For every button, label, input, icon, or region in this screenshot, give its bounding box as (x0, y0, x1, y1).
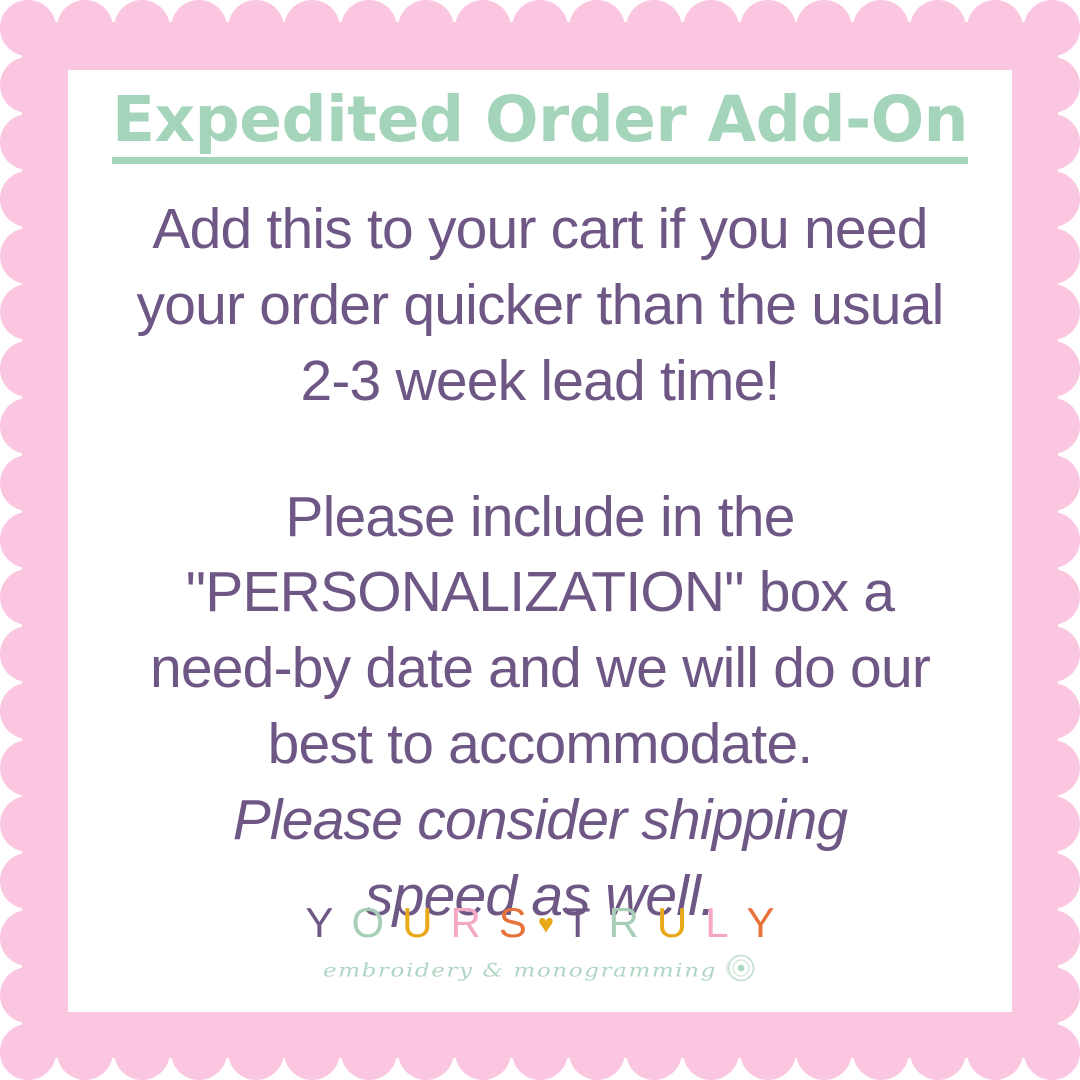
scallop-left (0, 569, 56, 625)
thread-spool-icon (723, 951, 757, 990)
scallop-right (1024, 1024, 1080, 1080)
scallop-top (57, 0, 113, 56)
scallop-bottom (626, 1024, 682, 1080)
scallop-top (455, 0, 511, 56)
scallop-right (1024, 626, 1080, 682)
scallop-right (1024, 114, 1080, 170)
scallop-top (853, 0, 909, 56)
scallop-bottom (57, 1024, 113, 1080)
scallop-left (0, 114, 56, 170)
logo-letter: L (696, 902, 737, 944)
scallop-right (1024, 228, 1080, 284)
scallop-right (1024, 171, 1080, 227)
scallop-left (0, 853, 56, 909)
logo-heart-icon: ♥ (536, 911, 556, 938)
scallop-right (1024, 796, 1080, 852)
page-title-text: Expedited Order Add-On (112, 87, 968, 164)
logo-letter: U (648, 902, 696, 944)
scallop-right (1024, 683, 1080, 739)
scallop-left (0, 341, 56, 397)
logo-letter: T (556, 902, 600, 944)
scallop-left (0, 455, 56, 511)
promo-card: Expedited Order Add-On Add this to your … (0, 0, 1080, 1080)
scallop-top (626, 0, 682, 56)
scallop-left (0, 626, 56, 682)
scallop-top (228, 0, 284, 56)
logo-letter: Y (738, 902, 784, 944)
para2-line-2: "PERSONALIZATION" box a (186, 560, 894, 624)
para2-italic-line-1: Please consider shipping (120, 783, 960, 859)
scallop-bottom (910, 1024, 966, 1080)
scallop-left (0, 0, 56, 56)
scallop-top (171, 0, 227, 56)
scallop-bottom (569, 1024, 625, 1080)
para2-line-3: need-by date and we will do (150, 636, 835, 700)
scallop-right (1024, 284, 1080, 340)
scallop-bottom (455, 1024, 511, 1080)
scallop-top (1024, 0, 1080, 56)
scallop-bottom (398, 1024, 454, 1080)
scallop-left (0, 57, 56, 113)
scallop-bottom (683, 1024, 739, 1080)
scallop-right (1024, 455, 1080, 511)
scallop-bottom (1024, 1024, 1080, 1080)
scallop-right (1024, 398, 1080, 454)
scallop-right (1024, 910, 1080, 966)
scallop-right (1024, 569, 1080, 625)
scallop-bottom (967, 1024, 1023, 1080)
logo-letter: R (600, 902, 648, 944)
logo-letter: R (441, 902, 489, 944)
scallop-left (0, 967, 56, 1023)
page-title: Expedited Order Add-On (112, 70, 968, 164)
scallop-right (1024, 853, 1080, 909)
scallop-left (0, 398, 56, 454)
logo-letter: S (490, 902, 536, 944)
scallop-right (1024, 740, 1080, 796)
scallop-bottom (341, 1024, 397, 1080)
paragraph-personalization: Please include in the "PERSONALIZATION" … (120, 480, 960, 935)
logo-letter: O (342, 902, 393, 944)
brand-tagline: embroidery & monogramming (323, 960, 717, 981)
scallop-top (341, 0, 397, 56)
scallop-top (967, 0, 1023, 56)
scallop-bottom (796, 1024, 852, 1080)
card-content: Expedited Order Add-On Add this to your … (68, 70, 1012, 1012)
scallop-right (1024, 512, 1080, 568)
scallop-top (284, 0, 340, 56)
scallop-bottom (114, 1024, 170, 1080)
scallop-bottom (171, 1024, 227, 1080)
scallop-right (1024, 0, 1080, 56)
scallop-bottom (853, 1024, 909, 1080)
scallop-left (0, 228, 56, 284)
scallop-top (740, 0, 796, 56)
brand-tagline-row: embroidery & monogramming (323, 951, 757, 990)
scallop-bottom (740, 1024, 796, 1080)
scallop-left (0, 796, 56, 852)
scallop-bottom (228, 1024, 284, 1080)
scallop-top (512, 0, 568, 56)
logo-letter: Y (296, 902, 342, 944)
para1-line-1: Add this to your cart if you (152, 197, 789, 261)
scallop-top (398, 0, 454, 56)
scallop-left (0, 1024, 56, 1080)
scallop-top (796, 0, 852, 56)
scallop-top (683, 0, 739, 56)
scallop-top (569, 0, 625, 56)
scallop-right (1024, 967, 1080, 1023)
scallop-bottom (284, 1024, 340, 1080)
brand-logo: YOURS♥TRULY embroidery & monogramming (68, 902, 1012, 990)
scallop-right (1024, 341, 1080, 397)
scallop-top (0, 0, 56, 56)
paragraph-lead-time: Add this to your cart if you need your o… (125, 192, 955, 419)
para2-line-1: Please include in the (285, 485, 794, 549)
scallop-top (910, 0, 966, 56)
scallop-left (0, 512, 56, 568)
brand-wordmark: YOURS♥TRULY (296, 902, 783, 944)
scallop-left (0, 740, 56, 796)
scallop-right (1024, 57, 1080, 113)
scallop-top (114, 0, 170, 56)
scallop-bottom (512, 1024, 568, 1080)
scallop-left (0, 171, 56, 227)
scallop-left (0, 910, 56, 966)
scallop-bottom (0, 1024, 56, 1080)
scallop-left (0, 284, 56, 340)
scallop-left (0, 683, 56, 739)
logo-letter: U (393, 902, 441, 944)
